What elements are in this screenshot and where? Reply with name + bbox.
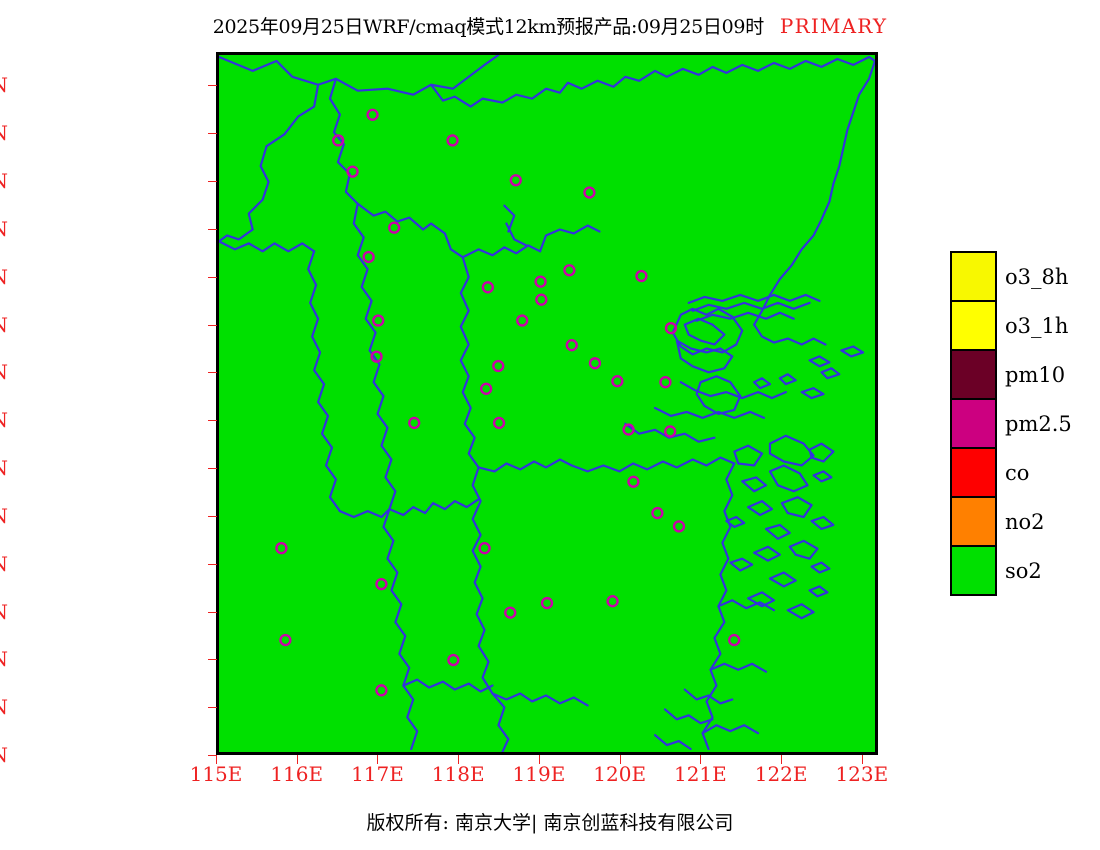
y-axis-tick <box>208 468 217 469</box>
y-axis-label: 27.5N <box>0 743 8 767</box>
y-axis-tick <box>208 516 217 517</box>
y-axis-label: 32.5N <box>0 265 8 289</box>
y-axis-label: 30N <box>0 504 8 528</box>
x-axis-label: 117E <box>351 762 404 786</box>
title-main-text: 2025年09月25日WRF/cmaq模式12km预报产品:09月25日09时 <box>213 16 764 38</box>
legend-label: co <box>1005 461 1029 485</box>
legend-swatch-o3-1h[interactable]: o3_1h <box>952 302 995 351</box>
y-axis-tick <box>208 181 217 182</box>
map-canvas <box>219 55 875 752</box>
legend-label: so2 <box>1005 559 1042 583</box>
y-axis-tick <box>208 659 217 660</box>
y-axis-label: 30.5N <box>0 456 8 480</box>
legend-swatch-co[interactable]: co <box>952 449 995 498</box>
y-axis-label: 32N <box>0 313 8 337</box>
legend-label: o3_8h <box>1005 265 1068 289</box>
y-axis-label: 31.5N <box>0 360 8 384</box>
legend-label: o3_1h <box>1005 314 1068 338</box>
y-axis-label: 28.5N <box>0 647 8 671</box>
y-axis-label: 33.5N <box>0 169 8 193</box>
map-plot-area[interactable] <box>216 52 878 755</box>
y-axis-tick <box>208 612 217 613</box>
y-axis-label: 29.5N <box>0 552 8 576</box>
legend-label: pm2.5 <box>1005 412 1072 436</box>
y-axis-label: 34.5N <box>0 73 8 97</box>
x-axis-label: 121E <box>674 762 727 786</box>
title-primary-tag: PRIMARY <box>780 14 887 38</box>
y-axis-label: 34N <box>0 121 8 145</box>
legend-swatch-pm2-5[interactable]: pm2.5 <box>952 400 995 449</box>
y-axis-tick <box>208 755 217 756</box>
y-axis-tick <box>208 564 217 565</box>
y-axis-label: 31N <box>0 408 8 432</box>
legend-label: no2 <box>1005 510 1045 534</box>
y-axis-label: 33N <box>0 217 8 241</box>
y-axis-tick <box>208 277 217 278</box>
y-axis-tick <box>208 420 217 421</box>
copyright-footer: 版权所有: 南京大学| 南京创蓝科技有限公司 <box>0 808 1100 835</box>
x-axis-label: 118E <box>432 762 485 786</box>
legend-swatch-so2[interactable]: so2 <box>952 547 995 594</box>
x-axis-label: 120E <box>593 762 646 786</box>
page-title: 2025年09月25日WRF/cmaq模式12km预报产品:09月25日09时P… <box>0 12 1100 39</box>
x-axis-label: 122E <box>755 762 808 786</box>
legend-swatch-pm10[interactable]: pm10 <box>952 351 995 400</box>
legend-label: pm10 <box>1005 363 1065 387</box>
y-axis-tick <box>208 85 217 86</box>
x-axis-label: 123E <box>835 762 888 786</box>
y-axis-label: 29N <box>0 600 8 624</box>
x-axis-label: 115E <box>190 762 243 786</box>
x-axis-label: 116E <box>270 762 323 786</box>
legend-panel[interactable]: o3_8ho3_1hpm10pm2.5cono2so2 <box>950 251 997 596</box>
legend-swatch-no2[interactable]: no2 <box>952 498 995 547</box>
legend-swatch-o3-8h[interactable]: o3_8h <box>952 253 995 302</box>
y-axis-tick <box>208 372 217 373</box>
y-axis-tick <box>208 707 217 708</box>
y-axis-label: 28N <box>0 695 8 719</box>
y-axis-tick <box>208 325 217 326</box>
y-axis-tick <box>208 229 217 230</box>
map-background <box>219 55 875 752</box>
y-axis-tick <box>208 133 217 134</box>
x-axis-label: 119E <box>513 762 566 786</box>
